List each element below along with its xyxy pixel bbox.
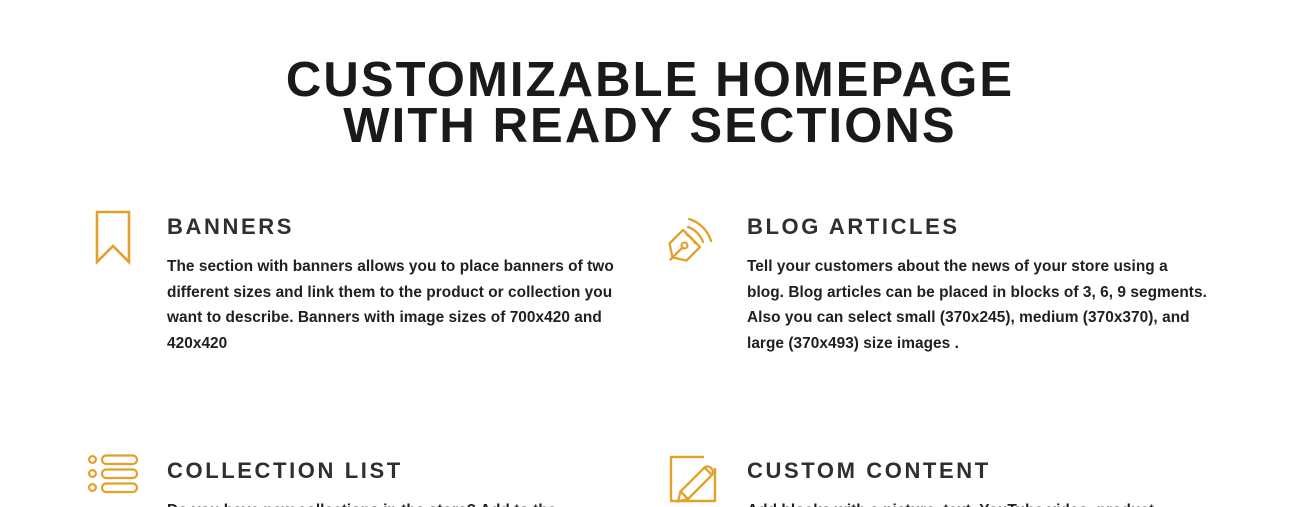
feature-title-blog-articles: BLOG ARTICLES <box>747 214 1245 240</box>
feature-body-collection-list: COLLECTION LIST Do you have new collecti… <box>167 449 665 507</box>
page-title: CUSTOMIZABLE HOMEPAGE WITH READY SECTION… <box>240 57 1060 149</box>
feature-text-custom-content: Add blocks with a picture, text, YouTube… <box>747 498 1207 507</box>
feature-item-banners: BANNERS The section with banners allows … <box>85 205 665 356</box>
feature-title-banners: BANNERS <box>167 214 665 240</box>
feature-item-blog-articles: BLOG ARTICLES Tell your customers about … <box>665 205 1245 356</box>
feature-text-banners: The section with banners allows you to p… <box>167 254 627 356</box>
feature-body-banners: BANNERS The section with banners allows … <box>167 205 665 356</box>
page-header: CUSTOMIZABLE HOMEPAGE WITH READY SECTION… <box>0 0 1300 149</box>
feature-body-blog-articles: BLOG ARTICLES Tell your customers about … <box>747 205 1245 356</box>
feature-text-collection-list: Do you have new collections in the store… <box>167 498 627 507</box>
feature-title-custom-content: CUSTOM CONTENT <box>747 458 1245 484</box>
feature-text-blog-articles: Tell your customers about the news of yo… <box>747 254 1207 356</box>
feature-title-collection-list: COLLECTION LIST <box>167 458 665 484</box>
page-title-line-1: CUSTOMIZABLE HOMEPAGE <box>240 57 1060 103</box>
pencil-square-icon <box>665 453 721 507</box>
list-icon <box>85 453 141 507</box>
blog-pen-nib-icon <box>665 209 721 265</box>
page-title-line-2: WITH READY SECTIONS <box>240 103 1060 149</box>
bookmark-icon <box>85 209 141 265</box>
feature-item-collection-list: COLLECTION LIST Do you have new collecti… <box>85 449 665 507</box>
feature-item-custom-content: CUSTOM CONTENT Add blocks with a picture… <box>665 449 1245 507</box>
page-root: CUSTOMIZABLE HOMEPAGE WITH READY SECTION… <box>0 0 1300 507</box>
feature-grid: BANNERS The section with banners allows … <box>0 205 1300 507</box>
feature-body-custom-content: CUSTOM CONTENT Add blocks with a picture… <box>747 449 1245 507</box>
